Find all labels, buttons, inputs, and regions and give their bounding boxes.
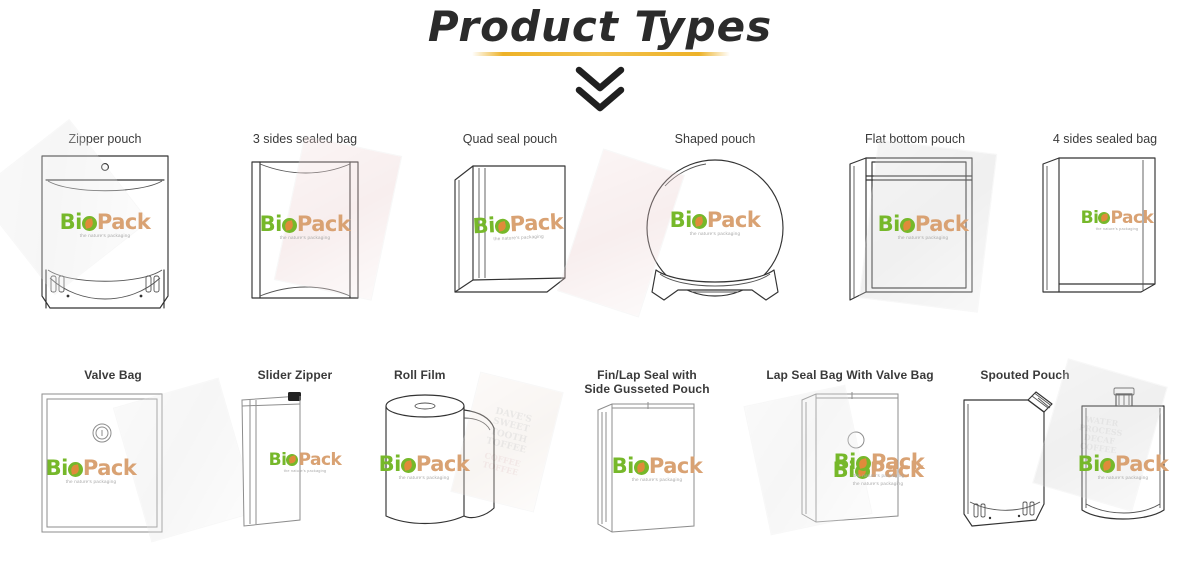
- biopack-logo: BiPack the nature's packaging: [0, 456, 186, 484]
- logo-pack-text: Pack: [83, 456, 136, 480]
- scroll-down-indicator[interactable]: [0, 66, 1200, 112]
- product-illustration-spouted-pouch: WATER PROCESS DECAF COFFEE: [940, 386, 1190, 546]
- leaf-icon: [634, 460, 649, 475]
- product-row-2: Valve Bag BiPack the nature's packaging: [0, 368, 1200, 568]
- logo-bio-text: Bi: [1078, 452, 1100, 476]
- title-underline: [472, 52, 730, 56]
- logo-pack-text: Pack: [871, 450, 924, 474]
- logo-pack-text: Pack: [1115, 452, 1168, 476]
- product-row-1: Zipper pouch: [0, 132, 1200, 332]
- logo-tagline: the nature's packaging: [754, 473, 1004, 478]
- product-label: 4 sides sealed bag: [1015, 132, 1195, 146]
- logo-bio-text: Bi: [60, 210, 82, 234]
- product-illustration-4-sides-sealed-bag: BiPack the nature's packaging: [1015, 150, 1195, 325]
- logo-pack-text: Pack: [707, 208, 760, 232]
- leaf-icon: [900, 218, 915, 233]
- leaf-icon: [856, 456, 871, 471]
- ghost-text-coffee: WATER PROCESS DECAF COFFEE: [1076, 414, 1124, 456]
- product-label: Shaped pouch: [620, 132, 810, 146]
- logo-tagline: the nature's packaging: [620, 231, 810, 236]
- page-title: Product Types: [0, 2, 1200, 51]
- logo-pack-text: Pack: [509, 210, 564, 237]
- leaf-icon: [68, 462, 83, 477]
- biopack-logo: BiPack the nature's packaging: [754, 450, 1004, 478]
- logo-pack-text: Pack: [416, 452, 469, 476]
- product-illustration-shaped-pouch: BiPack the nature's packaging: [620, 150, 810, 325]
- logo-bio-text: Bi: [46, 456, 68, 480]
- logo-bio-text: Bi: [612, 454, 634, 478]
- logo-tagline: the nature's packaging: [210, 235, 400, 240]
- logo-tagline: the nature's packaging: [10, 233, 200, 238]
- logo-tagline: the nature's packaging: [324, 475, 524, 480]
- product-types-page: Product Types Zipper pouch: [0, 0, 1200, 570]
- page-header: Product Types: [0, 0, 1200, 120]
- logo-bio-text: Bi: [260, 212, 282, 236]
- logo-tagline: the nature's packaging: [562, 477, 752, 482]
- logo-pack-text: Pack: [649, 454, 702, 478]
- product-label: Roll Film: [368, 368, 568, 382]
- leaf-icon: [286, 454, 298, 466]
- logo-bio-text: Bi: [878, 212, 900, 236]
- product-illustration-flat-bottom-pouch: BiPack the nature's packaging: [820, 150, 1010, 325]
- biopack-logo: BiPack the nature's packaging: [998, 452, 1200, 480]
- product-illustration-zipper-pouch: BiPack the nature's packaging: [10, 150, 200, 325]
- logo-pack-text: Pack: [97, 210, 150, 234]
- logo-bio-text: Bi: [379, 452, 401, 476]
- logo-pack-text: Pack: [915, 212, 968, 236]
- slider-tab-icon: [288, 392, 301, 401]
- leaf-icon: [1098, 212, 1110, 224]
- product-label: Fin/Lap Seal with Side Gusseted Pouch: [552, 368, 742, 396]
- leaf-icon: [1100, 458, 1115, 473]
- logo-pack-text: Pack: [297, 212, 350, 236]
- product-label: Lap Seal Bag With Valve Bag: [740, 368, 960, 382]
- product-label: Valve Bag: [18, 368, 208, 382]
- biopack-logo: BiPack the nature's packaging: [1027, 208, 1200, 231]
- logo-bio-text: Bi: [472, 213, 495, 238]
- logo-tagline: the nature's packaging: [0, 479, 186, 484]
- product-illustration-roll-film: DAVE'S SWEET TOOTH TOFFEE COFFEE TOFFEE …: [368, 384, 568, 544]
- double-chevron-down-icon[interactable]: [573, 66, 627, 112]
- biopack-logo: BiPack the nature's packaging: [620, 208, 810, 236]
- leaf-icon: [692, 214, 707, 229]
- leaf-icon: [282, 218, 297, 233]
- ghost-text-toffee: DAVE'S SWEET TOOTH TOFFEE: [485, 406, 535, 456]
- logo-tagline: the nature's packaging: [998, 475, 1200, 480]
- logo-pack-text: Pack: [1110, 208, 1153, 228]
- product-illustration-valve-bag: BiPack the nature's packaging: [18, 388, 208, 548]
- leaf-icon: [401, 458, 416, 473]
- product-illustration-fin-lap-seal: BiPack the nature's packaging: [552, 400, 742, 550]
- product-label: Slider Zipper: [200, 368, 390, 382]
- logo-bio-text: Bi: [1081, 208, 1099, 228]
- logo-tagline: the nature's packaging: [1027, 227, 1200, 231]
- biopack-logo: BiPack the nature's packaging: [10, 210, 200, 238]
- product-illustration-3-sides-sealed-bag: BiPack the nature's packaging: [210, 150, 400, 325]
- logo-bio-text: Bi: [834, 450, 856, 474]
- biopack-logo: BiPack the nature's packaging: [562, 454, 752, 482]
- product-label: Quad seal pouch: [415, 132, 605, 146]
- leaf-icon: [82, 216, 97, 231]
- leaf-icon: [494, 218, 510, 234]
- biopack-logo: BiPack the nature's packaging: [210, 212, 400, 240]
- biopack-logo: BiPack the nature's packaging: [324, 452, 524, 480]
- four-side-seal-art: [1015, 150, 1195, 325]
- logo-tagline: the nature's packaging: [828, 235, 1018, 240]
- logo-bio-text: Bi: [269, 450, 287, 470]
- logo-bio-text: Bi: [670, 208, 692, 232]
- biopack-logo: BiPack the nature's packaging: [828, 212, 1018, 240]
